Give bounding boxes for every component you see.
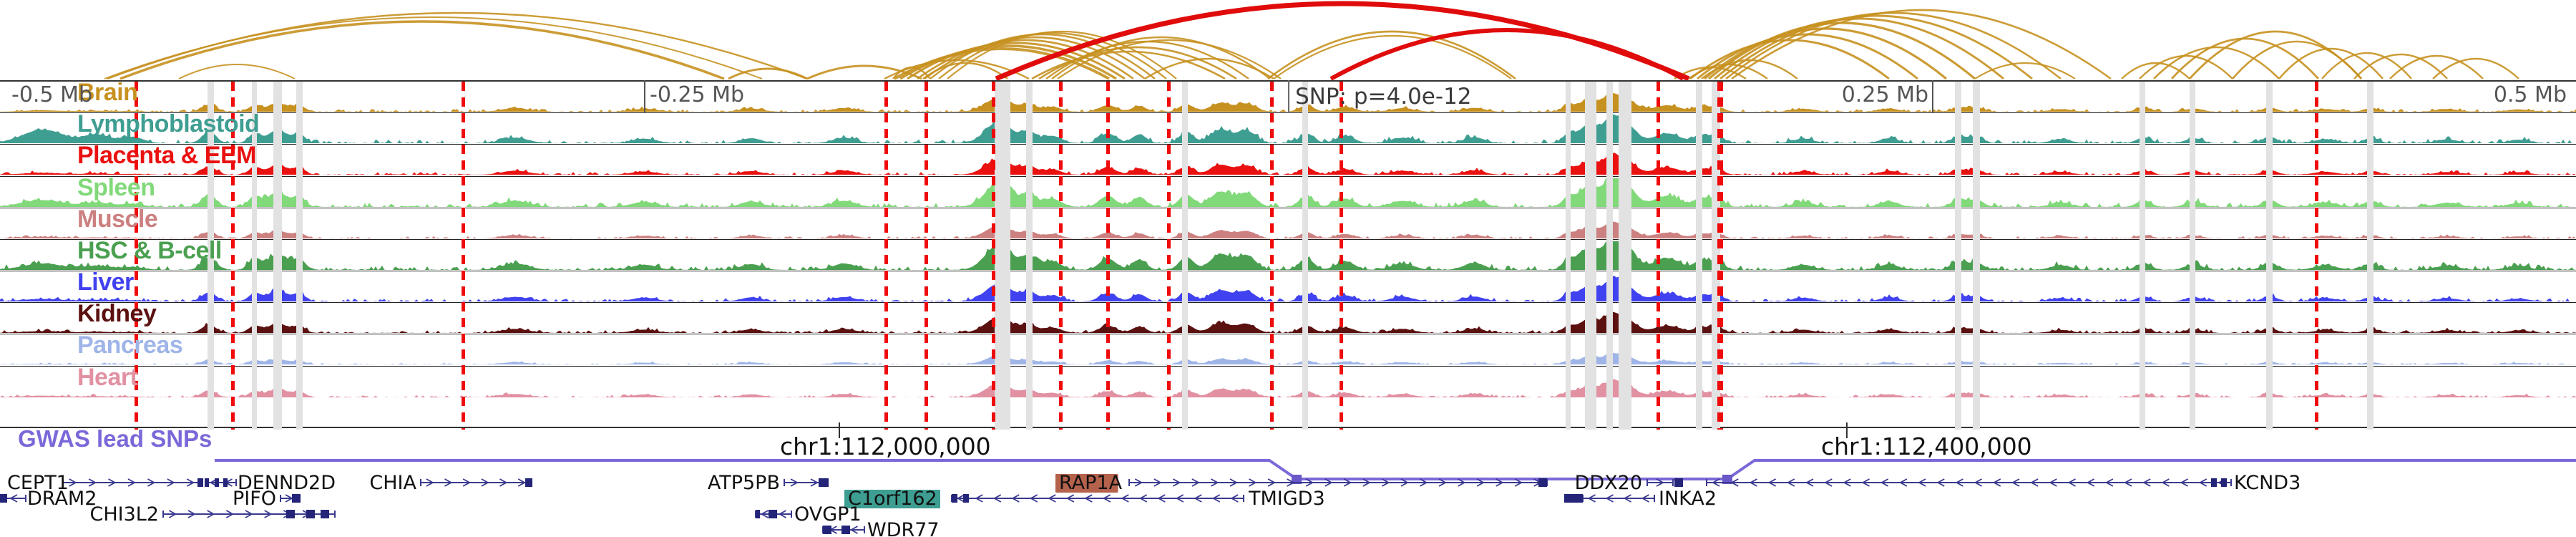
svg-text:INKA2: INKA2	[1659, 488, 1717, 510]
track-signal-canvas	[0, 113, 2576, 144]
track-signal-canvas	[0, 271, 2576, 302]
svg-text:KCND3: KCND3	[2234, 473, 2301, 494]
svg-text:TMIGD3: TMIGD3	[1248, 488, 1325, 510]
gene-annotation-track: CEPT1DENND2DCHIAATP5PBRAP1ADDX20KCND3DRA…	[0, 473, 2576, 537]
svg-text:PIFO: PIFO	[233, 488, 276, 510]
signal-track-placenta-eem: Placenta & EEM	[0, 145, 2576, 176]
svg-text:CHIA: CHIA	[369, 473, 416, 494]
signal-track-heart: Heart	[0, 367, 2576, 398]
track-signal-canvas	[0, 334, 2576, 365]
signal-track-brain: Brain	[0, 82, 2576, 113]
track-signal-canvas	[0, 367, 2576, 398]
genome-browser-view: BrainLymphoblastoidPlacenta & EEMSpleenM…	[0, 0, 2576, 537]
svg-text:C1orf162: C1orf162	[848, 488, 937, 510]
track-signal-canvas	[0, 303, 2576, 334]
svg-text:ATP5PB: ATP5PB	[708, 473, 780, 494]
chromatin-interaction-arc-panel	[0, 0, 2576, 80]
tissue-signal-track-stack: BrainLymphoblastoidPlacenta & EEMSpleenM…	[0, 80, 2576, 428]
svg-text:CHI3L2: CHI3L2	[89, 503, 159, 526]
arc-svg	[0, 0, 2576, 80]
gene-svg: CEPT1DENND2DCHIAATP5PBRAP1ADDX20KCND3DRA…	[0, 473, 2576, 537]
signal-track-lymphoblastoid: Lymphoblastoid	[0, 113, 2576, 145]
signal-track-hsc-b-cell: HSC & B-cell	[0, 240, 2576, 271]
coordinate-label: chr1:112,000,000	[780, 432, 991, 460]
signal-track-muscle: Muscle	[0, 208, 2576, 240]
track-signal-canvas	[0, 145, 2576, 175]
signal-track-spleen: Spleen	[0, 177, 2576, 208]
track-rows: BrainLymphoblastoidPlacenta & EEMSpleenM…	[0, 82, 2576, 398]
svg-text:DDX20: DDX20	[1575, 473, 1642, 494]
gwas-lead-snps-label: GWAS lead SNPs	[18, 425, 212, 453]
coordinate-label: chr1:112,400,000	[1821, 432, 2032, 460]
signal-track-liver: Liver	[0, 271, 2576, 303]
svg-text:WDR77: WDR77	[867, 519, 940, 537]
track-signal-canvas	[0, 208, 2576, 239]
svg-text:RAP1A: RAP1A	[1059, 473, 1123, 494]
signal-track-kidney: Kidney	[0, 303, 2576, 334]
track-signal-canvas	[0, 177, 2576, 208]
track-signal-canvas	[0, 240, 2576, 271]
svg-text:OVGP1: OVGP1	[794, 503, 862, 526]
svg-text:DRAM2: DRAM2	[27, 488, 97, 510]
track-signal-canvas	[0, 82, 2576, 112]
coordinate-band: GWAS lead SNPs chr1:112,000,000chr1:112,…	[0, 428, 2576, 468]
signal-track-pancreas: Pancreas	[0, 334, 2576, 366]
